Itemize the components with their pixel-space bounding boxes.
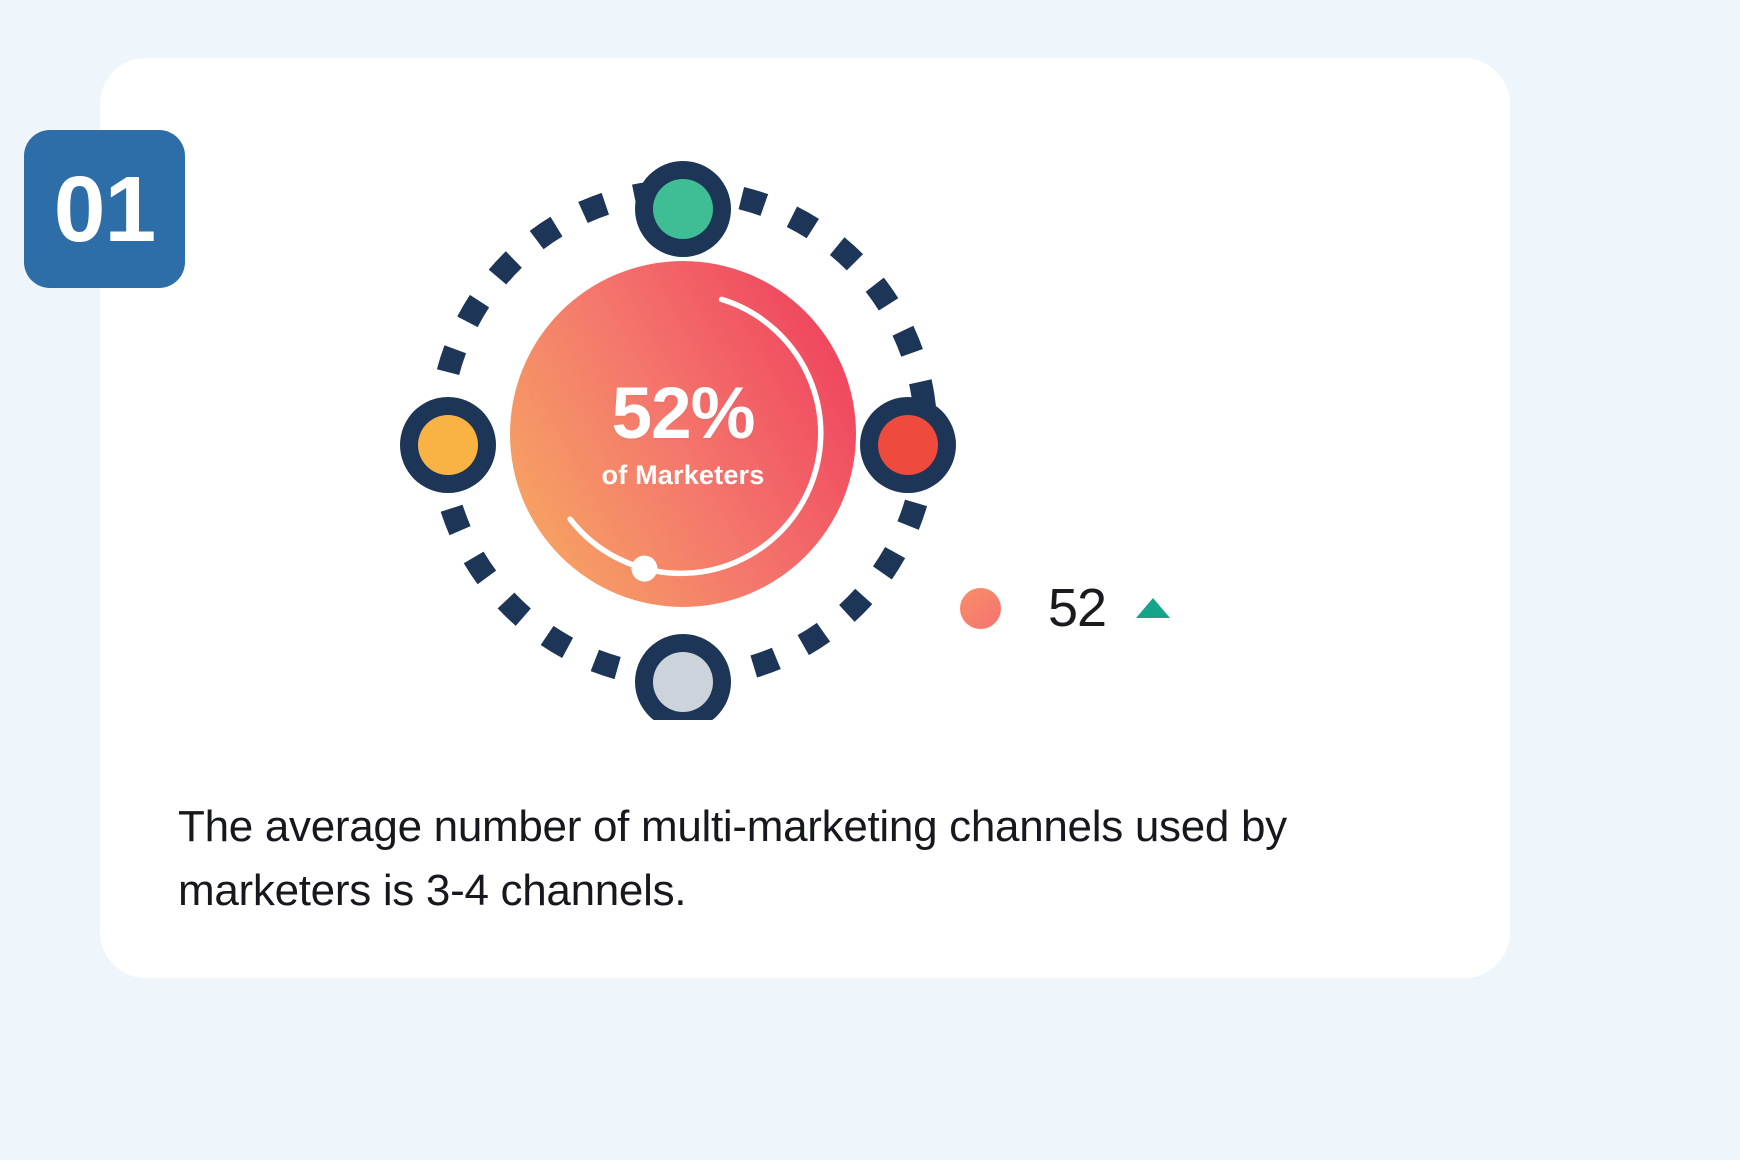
chart-legend: 52 xyxy=(960,578,1170,638)
node-right xyxy=(860,397,956,493)
infographic-stage: 01 xyxy=(0,0,1740,1160)
step-number-badge: 01 xyxy=(24,130,185,288)
step-number-label: 01 xyxy=(54,163,155,256)
node-top xyxy=(635,161,731,257)
legend-value: 52 xyxy=(1048,581,1106,635)
node-bottom xyxy=(635,634,731,720)
caption-text: The average number of multi-marketing ch… xyxy=(178,795,1408,923)
donut-chart-graphic xyxy=(397,148,969,720)
gradient-circle xyxy=(510,261,856,607)
legend-dot-icon xyxy=(960,588,1001,629)
triangle-up-icon xyxy=(1136,598,1170,618)
node-left xyxy=(400,397,496,493)
